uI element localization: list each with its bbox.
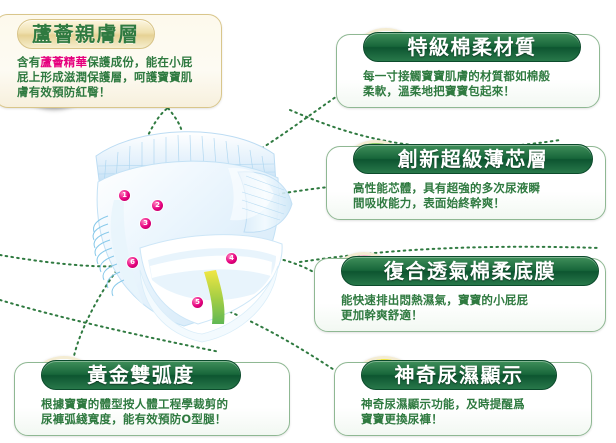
panel-core-text: 高性能芯體，具有超強的多次尿液瞬 間吸收能力，表面始終幹爽！ <box>353 181 595 211</box>
indicator-text-line2: 寶寶更換尿褲！ <box>361 412 581 427</box>
panel-curve[interactable]: 黃金雙弧度 根據寶寶的體型按人體工程學裁剪的 尿褲弧綫寬度，能有效預防O型腿！ <box>26 356 290 436</box>
marker-6: 6 <box>127 257 138 268</box>
panel-core[interactable]: 創新超級薄芯層 高性能芯體，具有超強的多次尿液瞬 間吸收能力，表面始終幹爽！ <box>338 140 606 220</box>
panel-cotton-header: 特級棉柔材質 <box>363 32 581 62</box>
curve-text-line1: 根據寶寶的體型按人體工程學裁剪的 <box>41 397 279 412</box>
marker-5: 5 <box>192 297 203 308</box>
aloe-text-line2: 屁上形成滋潤保護層，呵護寶寶肌 <box>17 70 211 85</box>
aloe-text-a: 含有 <box>17 55 40 69</box>
panel-indicator-text: 神奇尿濕顯示功能，及時提醒爲 寶寶更換尿褲！ <box>361 397 581 427</box>
panel-aloe[interactable]: ALOE MOISTURIZING 天然保濕 蘆薈精華 蘆薈親膚層 含有蘆薈精華… <box>8 10 222 108</box>
marker-label: 6 <box>130 259 135 266</box>
panel-cotton-text: 每一寸接觸寶寶肌膚的材質都如棉般 柔軟，溫柔地把寶寶包起來！ <box>363 69 589 99</box>
aloe-text-highlight: 蘆薈精華 <box>40 55 87 69</box>
marker-label: 4 <box>229 255 234 262</box>
panel-breathable-box[interactable]: 復合透氣棉柔底膜 能快速排出悶熱濕氣，寶寶的小屁屁 更加幹爽舒適！ <box>314 258 606 332</box>
marker-label: 5 <box>195 299 200 306</box>
panel-breathable-title: 復合透氣棉柔底膜 <box>384 261 556 281</box>
panel-curve-title: 黃金雙弧度 <box>87 365 195 385</box>
panel-indicator-title: 神奇尿濕顯示 <box>395 365 524 385</box>
curve-text-line2: 尿褲弧綫寬度，能有效預防O型腿！ <box>41 412 279 427</box>
panel-core-header: 創新超級薄芯層 <box>353 144 593 174</box>
panel-breathable-text: 能快速排出悶熱濕氣，寶寶的小屁屁 更加幹爽舒適！ <box>341 293 595 323</box>
panel-aloe-text: 含有蘆薈精華保護成份，能在小屁 屁上形成滋潤保護層，呵護寶寶肌 膚有效預防紅臀！ <box>17 55 211 100</box>
panel-aloe-title: 蘆薈親膚層 <box>32 24 140 44</box>
panel-indicator[interactable]: 神奇尿濕顯示 神奇尿濕顯示功能，及時提醒爲 寶寶更換尿褲！ <box>346 356 592 436</box>
panel-breathable[interactable]: 透氣 復合透氣棉柔底膜 能快速排出悶熱濕氣，寶寶的小屁屁 更加幹爽舒適！ <box>326 252 606 332</box>
marker-3: 3 <box>140 218 151 229</box>
panel-core-box[interactable]: 創新超級薄芯層 高性能芯體，具有超強的多次尿液瞬 間吸收能力，表面始終幹爽！ <box>326 146 606 220</box>
panel-curve-header: 黃金雙弧度 <box>41 360 241 390</box>
panel-cotton-box[interactable]: 特級棉柔材質 每一寸接觸寶寶肌膚的材質都如棉般 柔軟，溫柔地把寶寶包起來！ <box>336 34 600 108</box>
infographic-root: 1 2 3 4 5 6 <box>0 0 616 443</box>
breathable-text-line1: 能快速排出悶熱濕氣，寶寶的小屁屁 <box>341 293 595 308</box>
indicator-text-line1: 神奇尿濕顯示功能，及時提醒爲 <box>361 397 581 412</box>
panel-breathable-header: 復合透氣棉柔底膜 <box>341 256 599 286</box>
panel-indicator-header: 神奇尿濕顯示 <box>361 360 557 390</box>
panel-aloe-header: 蘆薈親膚層 <box>17 19 155 49</box>
cotton-text-line2: 柔軟，溫柔地把寶寶包起來！ <box>363 84 589 99</box>
aloe-text-b: 保護成份，能在小屁 <box>87 55 192 69</box>
marker-label: 1 <box>122 192 127 199</box>
core-text-line1: 高性能芯體，具有超強的多次尿液瞬 <box>353 181 595 196</box>
panel-core-title: 創新超級薄芯層 <box>398 149 549 169</box>
cotton-text-line1: 每一寸接觸寶寶肌膚的材質都如棉般 <box>363 69 589 84</box>
diaper-illustration <box>78 120 318 350</box>
panel-curve-box[interactable]: 黃金雙弧度 根據寶寶的體型按人體工程學裁剪的 尿褲弧綫寬度，能有效預防O型腿！ <box>14 362 290 436</box>
aloe-text-line3: 膚有效預防紅臀！ <box>17 85 211 100</box>
panel-curve-text: 根據寶寶的體型按人體工程學裁剪的 尿褲弧綫寬度，能有效預防O型腿！ <box>41 397 279 427</box>
panel-indicator-box[interactable]: 神奇尿濕顯示 神奇尿濕顯示功能，及時提醒爲 寶寶更換尿褲！ <box>334 362 592 436</box>
marker-label: 2 <box>155 202 160 209</box>
breathable-text-line2: 更加幹爽舒適！ <box>341 308 595 323</box>
core-text-line2: 間吸收能力，表面始終幹爽！ <box>353 196 595 211</box>
marker-1: 1 <box>119 190 130 201</box>
panel-aloe-box[interactable]: 蘆薈親膚層 含有蘆薈精華保護成份，能在小屁 屁上形成滋潤保護層，呵護寶寶肌 膚有… <box>0 14 222 108</box>
panel-cotton-title: 特級棉柔材質 <box>408 37 537 57</box>
panel-cotton[interactable]: 特級棉柔材質 每一寸接觸寶寶肌膚的材質都如棉般 柔軟，溫柔地把寶寶包起來！ <box>348 28 600 108</box>
marker-2: 2 <box>152 200 163 211</box>
marker-4: 4 <box>226 253 237 264</box>
marker-label: 3 <box>143 220 148 227</box>
